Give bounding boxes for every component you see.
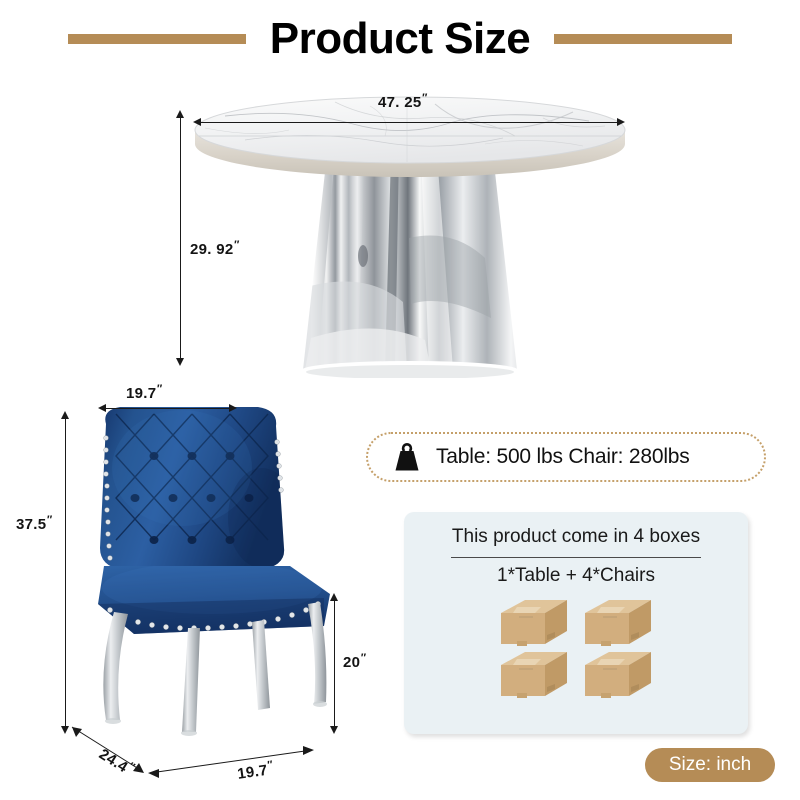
header-rule-right xyxy=(554,34,732,44)
chair-height-label: 37.5″ xyxy=(16,514,52,533)
table-width-arrow-left xyxy=(193,118,201,126)
carton-box xyxy=(495,649,573,701)
chair-svg xyxy=(62,398,352,763)
table-height-label: 29. 92″ xyxy=(190,239,239,258)
carton-box xyxy=(495,597,573,649)
chair-back-width-label: 19.7″ xyxy=(126,383,162,402)
table-base xyxy=(295,148,535,378)
packaging-panel: This product come in 4 boxes 1*Table + 4… xyxy=(404,512,748,734)
carton-box xyxy=(579,649,657,701)
table-illustration xyxy=(185,88,635,378)
chair-back-width-arrow-right xyxy=(229,404,237,412)
packaging-box-grid xyxy=(404,597,748,701)
chair-height-arrow-up xyxy=(61,411,69,419)
table-width-arrow-right xyxy=(617,118,625,126)
table-height-value: 29. 92 xyxy=(190,241,234,258)
table-height-dim-line xyxy=(180,118,181,360)
chair-seat-height-unit: ″ xyxy=(360,652,366,664)
chair-seat-height-label: 20″ xyxy=(343,652,366,671)
table-height-arrow-up xyxy=(176,110,184,118)
chair-seat-height-dim-line xyxy=(334,600,335,728)
packaging-divider xyxy=(451,557,701,558)
chair-leg-front-left xyxy=(103,612,128,720)
table-width-unit: ″ xyxy=(422,92,428,104)
chair-back-width-unit: ″ xyxy=(156,383,162,395)
chair-base-width-arrow-start xyxy=(148,769,159,778)
size-unit-badge-label: Size: inch xyxy=(669,754,751,776)
page-header: Product Size xyxy=(0,0,800,78)
chair-base-width-arrow-end xyxy=(303,746,314,755)
chair-back-width-value: 19.7 xyxy=(126,385,156,402)
page-title: Product Size xyxy=(270,17,531,61)
size-unit-badge: Size: inch xyxy=(645,748,775,782)
chair-height-unit: ″ xyxy=(46,514,52,526)
table-width-dim-line xyxy=(200,122,618,123)
chair-seat-height-arrow-up xyxy=(330,593,338,601)
table-width-label: 47. 25″ xyxy=(378,92,427,111)
chair-leg-back-left xyxy=(252,620,270,710)
table-svg xyxy=(185,88,635,378)
weight-icon xyxy=(390,441,424,473)
header-rule-left xyxy=(68,34,246,44)
chair-illustration xyxy=(62,398,352,763)
weight-capacity-text: Table: 500 lbs Chair: 280lbs xyxy=(436,445,690,469)
table-width-value: 47. 25 xyxy=(378,94,422,111)
table-height-arrow-down xyxy=(176,358,184,366)
packaging-subtitle: 1*Table + 4*Chairs xyxy=(404,565,748,587)
chair-height-value: 37.5 xyxy=(16,516,46,533)
carton-box xyxy=(579,597,657,649)
chair-back-width-dim-line xyxy=(105,408,230,409)
packaging-title: This product come in 4 boxes xyxy=(404,526,748,548)
table-height-unit: ″ xyxy=(234,239,240,251)
chair-height-dim-line xyxy=(65,418,66,728)
chair-base-width-dim-line xyxy=(150,750,312,773)
chair-back-width-arrow-left xyxy=(98,404,106,412)
chair-seat-height-value: 20 xyxy=(343,654,360,671)
weight-capacity-box: Table: 500 lbs Chair: 280lbs xyxy=(366,432,766,482)
